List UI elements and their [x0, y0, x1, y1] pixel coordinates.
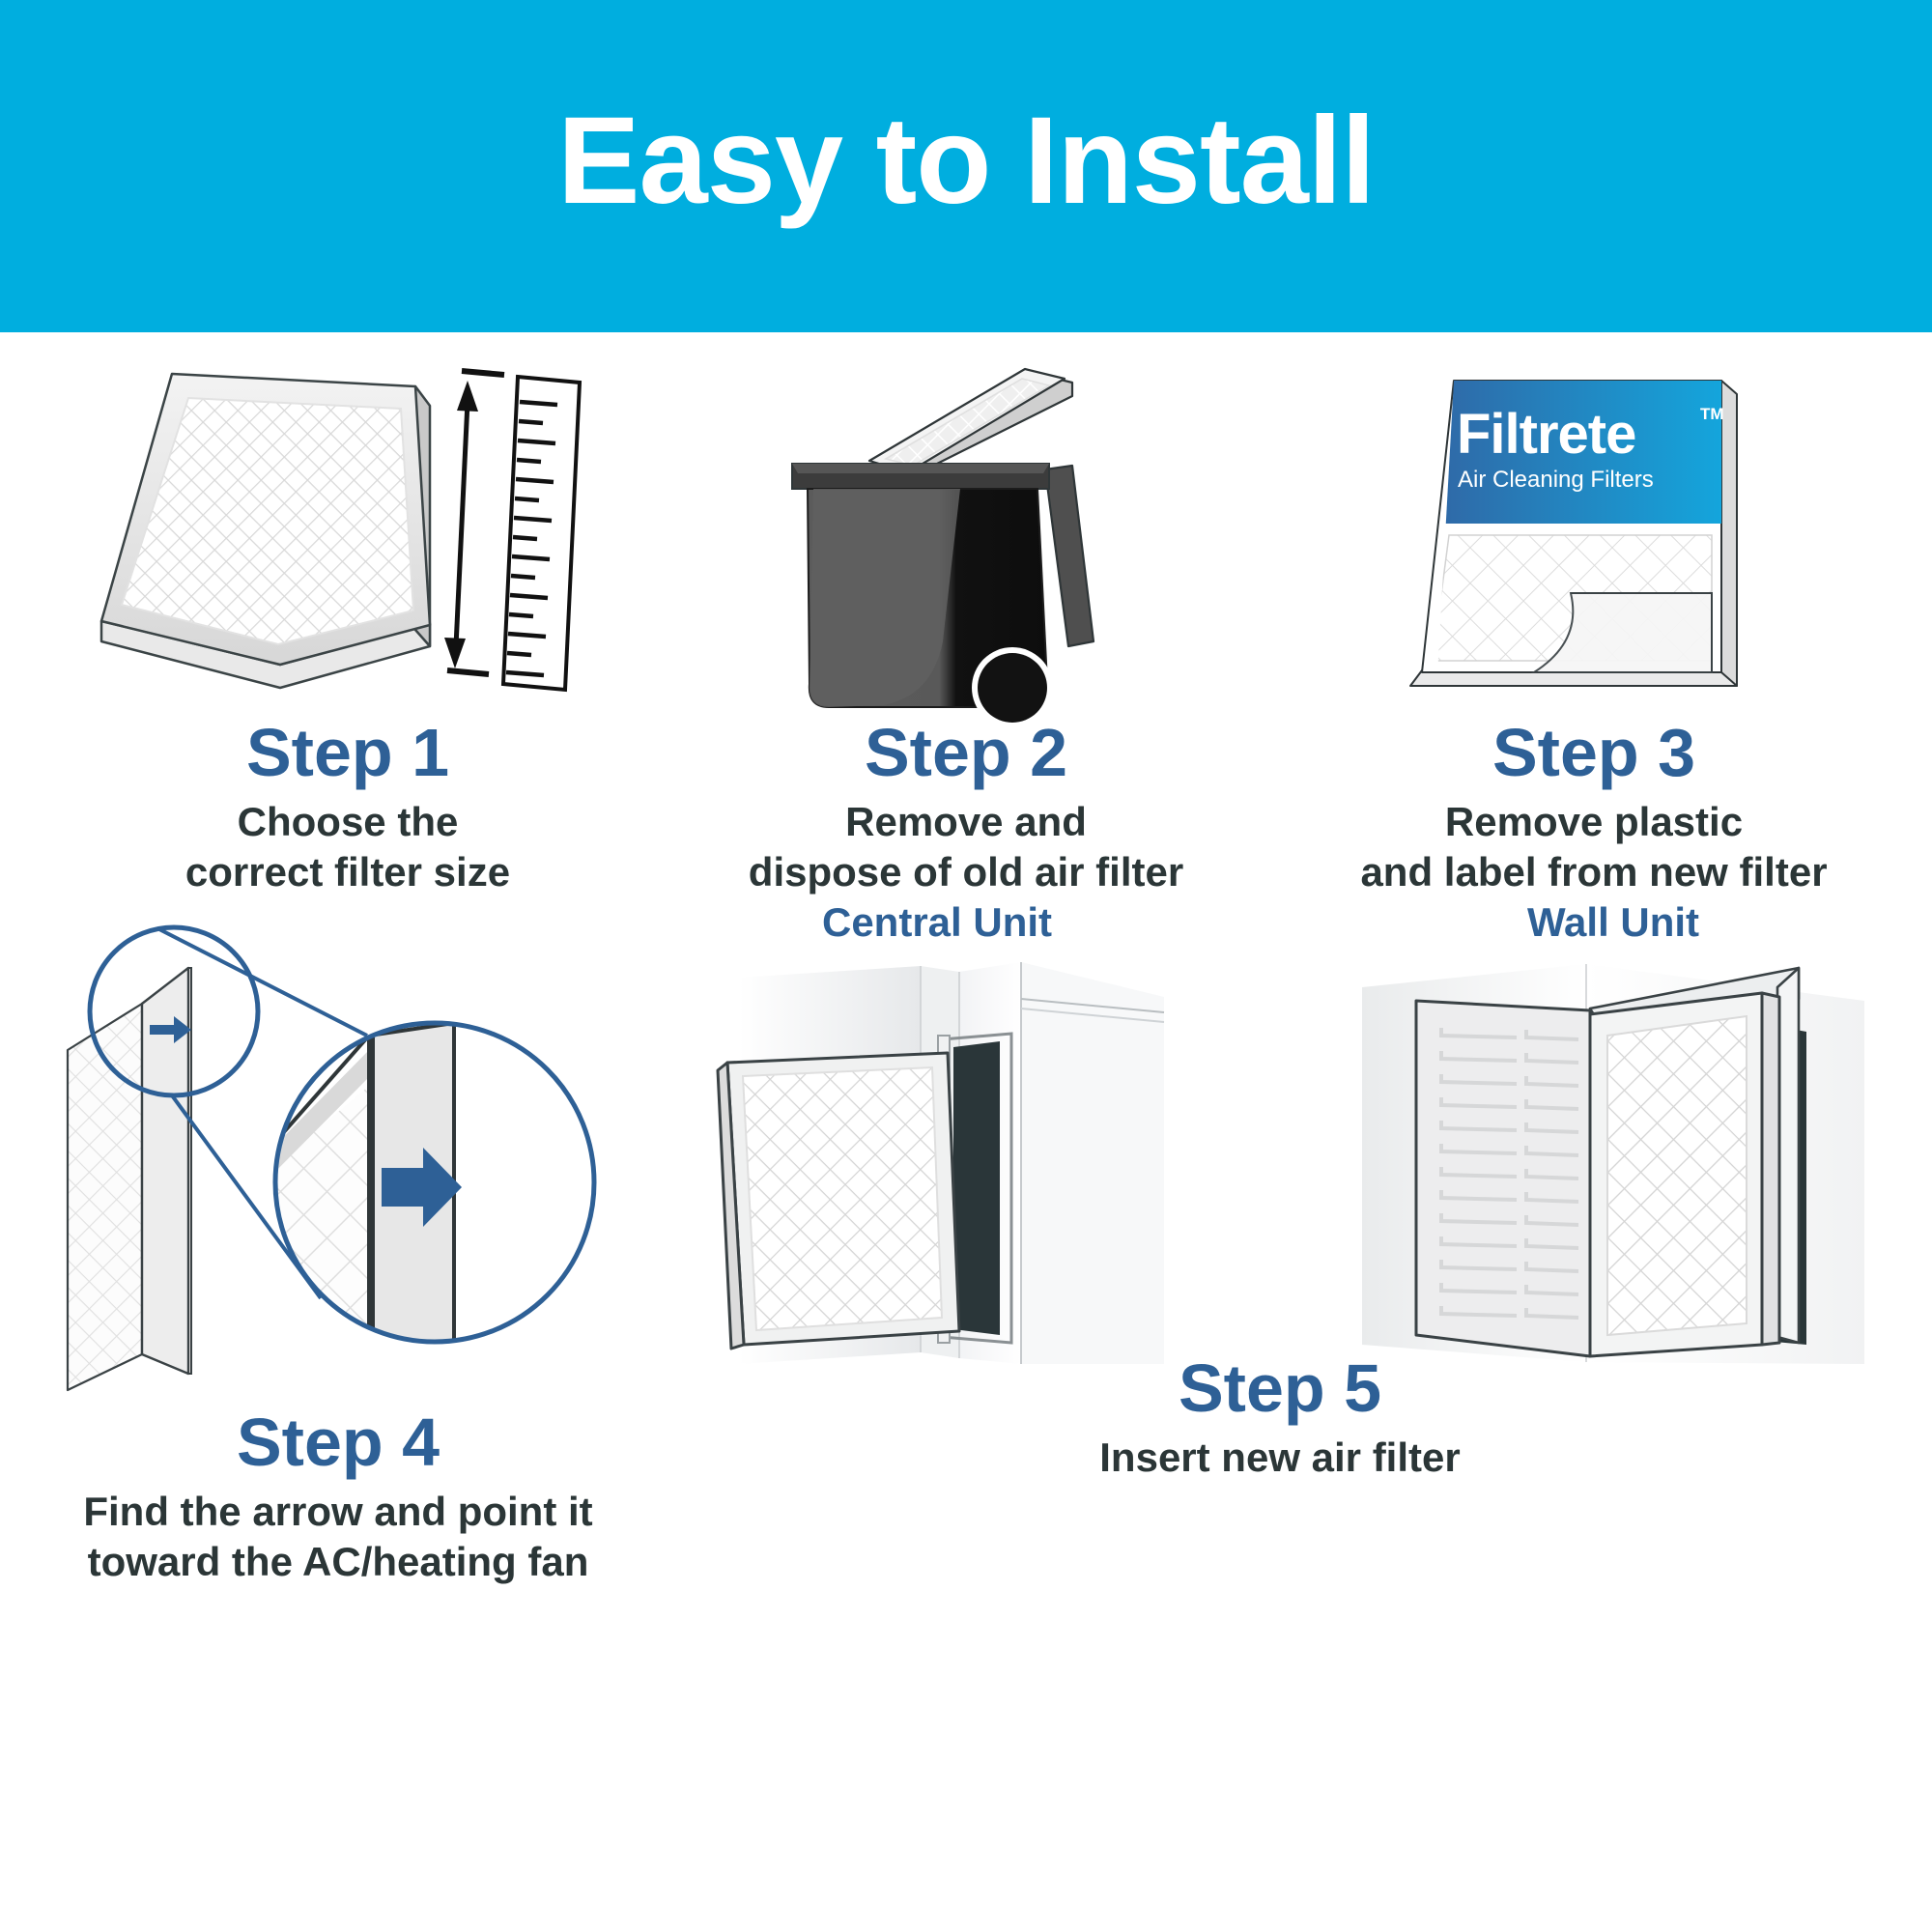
central-unit-label: Central Unit — [657, 902, 1217, 943]
step-4-illustration — [48, 912, 628, 1414]
trash-bin-with-old-filter-icon — [753, 352, 1179, 719]
central-unit-block: Central Unit — [657, 902, 1217, 1364]
step-3-illustration: Filtrete TM Air Cleaning Filters — [1381, 352, 1806, 719]
step-5-description: Insert new air filter — [657, 1433, 1903, 1482]
step-2-description: Remove and dispose of old air filter — [657, 797, 1275, 895]
wall-unit-block: Wall Unit — [1323, 902, 1903, 1364]
header-band: Easy to Install — [0, 0, 1932, 332]
dimension-arrow-icon — [444, 381, 478, 668]
step-5-title: Step 5 — [657, 1354, 1903, 1423]
central-unit-illustration — [710, 958, 1164, 1364]
step-2: Step 2 Remove and dispose of old air fil… — [657, 352, 1275, 896]
step-1-title: Step 1 — [53, 719, 642, 787]
ruler-icon — [503, 377, 580, 690]
step-2-illustration — [753, 352, 1179, 719]
filtrete-wordmark: Filtrete — [1457, 403, 1635, 466]
wall-unit-illustration — [1362, 958, 1864, 1364]
step-1: Step 1 Choose the correct filter size — [53, 352, 642, 896]
step-3-description: Remove plastic and label from new filter — [1285, 797, 1903, 895]
wall-unit-label: Wall Unit — [1323, 902, 1903, 943]
step-3-title: Step 3 — [1285, 719, 1903, 787]
air-filter-with-ruler-icon — [87, 352, 609, 719]
step-2-title: Step 2 — [657, 719, 1275, 787]
central-unit-icon — [710, 958, 1164, 1364]
step-4-title: Step 4 — [39, 1408, 638, 1477]
step-1-description: Choose the correct filter size — [53, 797, 642, 895]
step-4: Step 4 Find the arrow and point it towar… — [39, 912, 638, 1586]
step-1-illustration — [87, 352, 609, 719]
package-tagline: Air Cleaning Filters — [1458, 467, 1654, 493]
page-title: Easy to Install — [557, 99, 1375, 223]
step-4-description: Find the arrow and point it toward the A… — [39, 1487, 638, 1585]
steps-area: Step 1 Choose the correct filter size — [0, 332, 1932, 1932]
filter-arrow-magnifier-icon — [48, 912, 628, 1414]
wall-unit-icon — [1362, 958, 1864, 1364]
step-5: Central Unit — [657, 902, 1903, 1483]
infographic-page: Easy to Install — [0, 0, 1932, 1932]
filtrete-package-icon: Filtrete TM Air Cleaning Filters — [1381, 352, 1806, 719]
trademark-symbol: TM — [1700, 405, 1724, 423]
step-3: Filtrete TM Air Cleaning Filters Step 3 … — [1285, 352, 1903, 896]
